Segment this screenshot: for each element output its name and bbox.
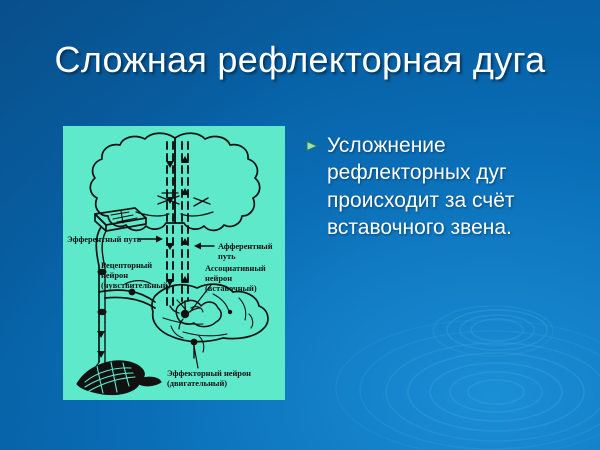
body-bullet-list: Усложнение рефлекторных дуг происходит з… bbox=[306, 132, 574, 241]
label-receptor-neuron-line1: Рецепторный bbox=[101, 261, 152, 270]
label-efferent-path: Эфферентный путь bbox=[67, 235, 142, 244]
label-receptor-neuron-line2: нейрон bbox=[101, 271, 128, 280]
page-title: Сложная рефлекторная дуга bbox=[0, 40, 600, 80]
label-associative-neuron-line2: нейрон bbox=[205, 274, 232, 283]
label-effector-neuron-line1: Эффекторный нейрон bbox=[167, 369, 251, 378]
bullet-text: Усложнение рефлекторных дуг происходит з… bbox=[327, 132, 574, 241]
reflex-arc-diagram-panel: Эфферентный путь Афферентный путь Рецепт… bbox=[63, 126, 285, 400]
label-associative-neuron-line1: Ассоциативный bbox=[205, 264, 266, 273]
slide: Сложная рефлекторная дуга bbox=[0, 0, 600, 450]
reflex-arc-illustration: Эфферентный путь Афферентный путь Рецепт… bbox=[63, 126, 285, 400]
label-associative-neuron-line3: (вставочный) bbox=[205, 284, 257, 293]
arrow-bullet-icon bbox=[306, 139, 319, 157]
list-item: Усложнение рефлекторных дуг происходит з… bbox=[306, 132, 574, 241]
label-afferent-path-line2: путь bbox=[218, 252, 236, 261]
label-effector-neuron-line2: (двигательный) bbox=[167, 379, 227, 388]
label-afferent-path-line1: Афферентный bbox=[218, 242, 273, 251]
label-receptor-neuron-line3: (чувствительный) bbox=[101, 281, 171, 290]
